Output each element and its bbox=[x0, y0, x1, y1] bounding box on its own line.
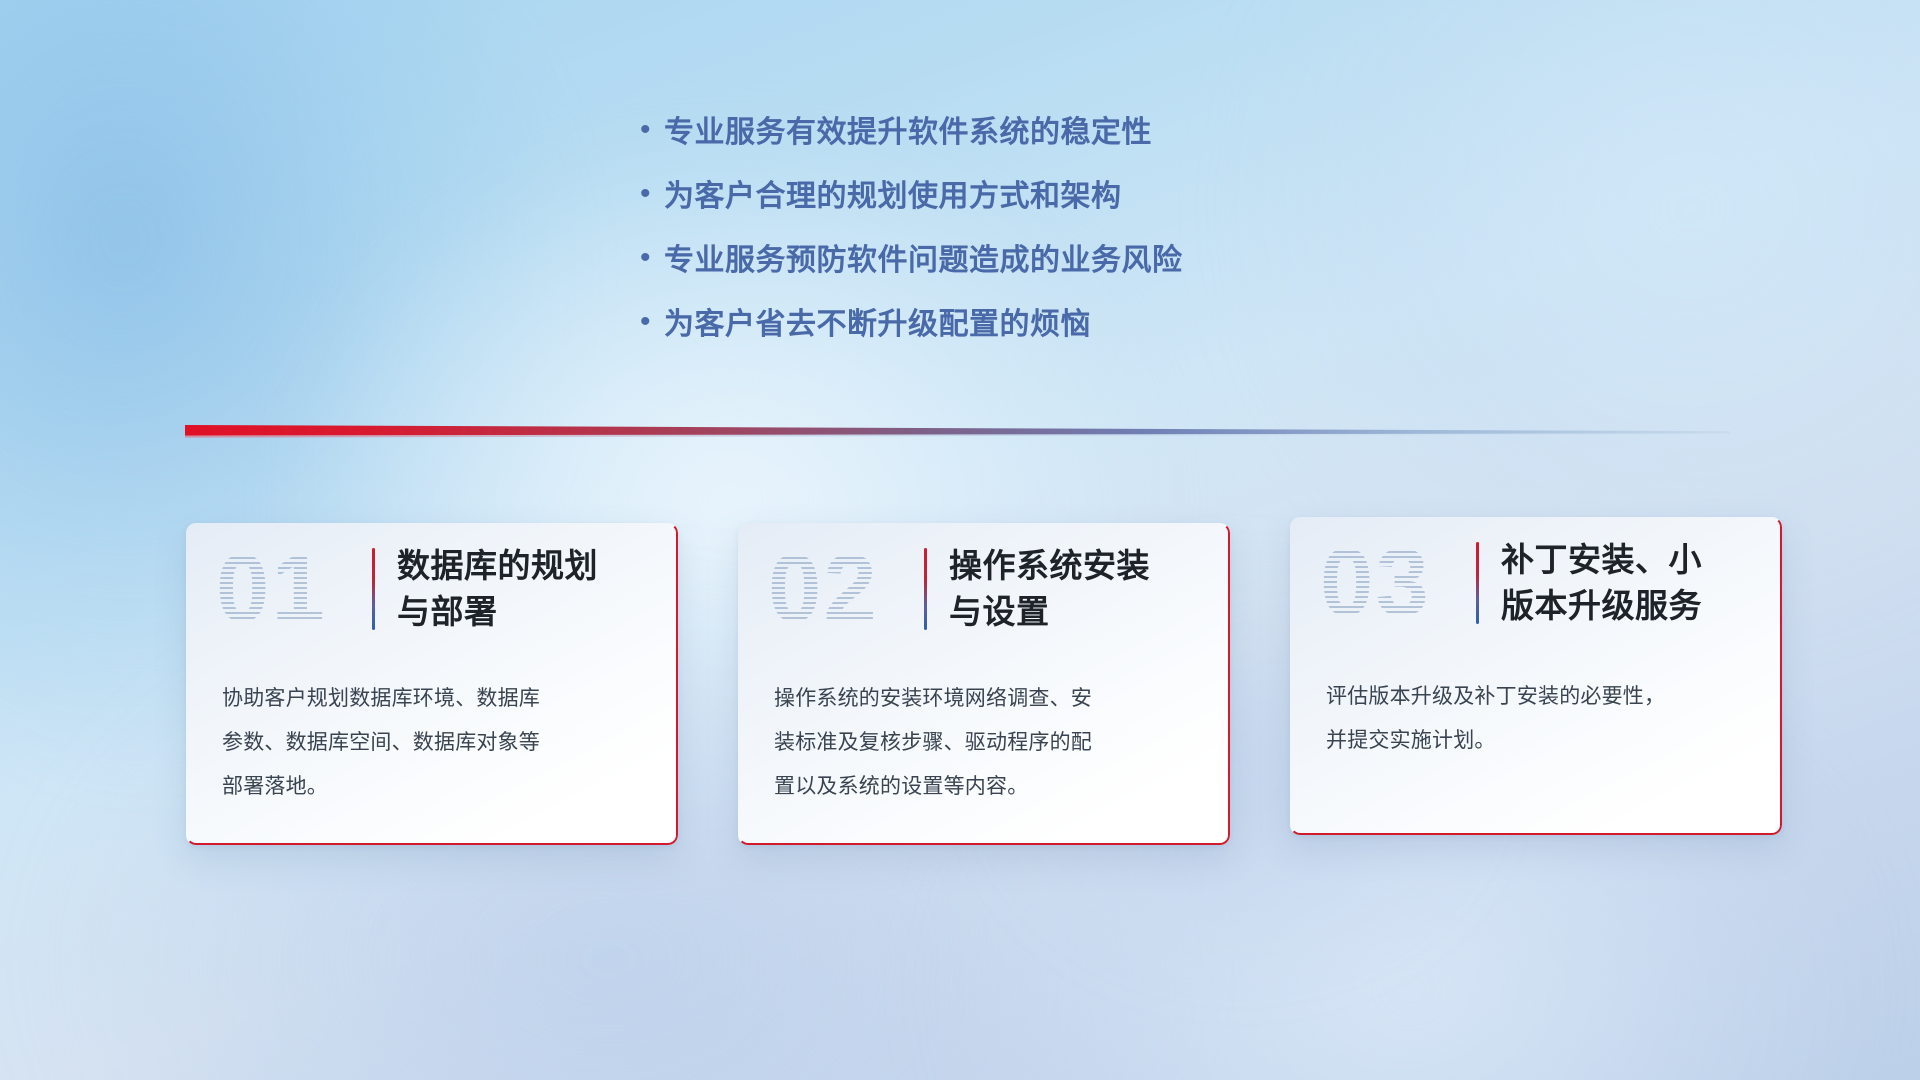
service-card-02[interactable]: 02 操作系统安装 与设置 操作系统的安装环境网络调查、安 装标准及复核步骤、驱… bbox=[738, 523, 1230, 845]
benefits-bullet-list: • 专业服务有效提升软件系统的稳定性 • 为客户合理的规划使用方式和架构 • 专… bbox=[640, 112, 1400, 368]
bullet-dot-icon: • bbox=[640, 302, 664, 342]
service-card-01[interactable]: 01 数据库的规划 与部署 协助客户规划数据库环境、数据库 参数、数据库空间、数… bbox=[186, 523, 678, 845]
card-header: 01 数据库的规划 与部署 bbox=[186, 523, 678, 655]
bullet-item-label: 为客户合理的规划使用方式和架构 bbox=[664, 176, 1122, 218]
card-accent-bar bbox=[924, 548, 927, 630]
card-description: 评估版本升级及补丁安装的必要性， 并提交实施计划。 bbox=[1290, 675, 1782, 763]
card-description: 协助客户规划数据库环境、数据库 参数、数据库空间、数据库对象等 部署落地。 bbox=[186, 677, 678, 809]
bullet-item: • 专业服务预防软件问题造成的业务风险 bbox=[640, 240, 1400, 282]
slide-canvas: • 专业服务有效提升软件系统的稳定性 • 为客户合理的规划使用方式和架构 • 专… bbox=[0, 0, 1920, 1080]
card-title: 数据库的规划 与部署 bbox=[397, 543, 598, 635]
card-number-watermark: 02 bbox=[768, 537, 920, 641]
bullet-item-label: 专业服务预防软件问题造成的业务风险 bbox=[664, 240, 1183, 282]
bullet-dot-icon: • bbox=[640, 174, 664, 214]
bullet-dot-icon: • bbox=[640, 238, 664, 278]
card-number-watermark: 01 bbox=[216, 537, 368, 641]
card-number-watermark: 03 bbox=[1320, 531, 1472, 635]
bullet-item: • 为客户合理的规划使用方式和架构 bbox=[640, 176, 1400, 218]
service-card-03[interactable]: 03 补丁安装、小 版本升级服务 评估版本升级及补丁安装的必要性， 并提交实施计… bbox=[1290, 517, 1782, 835]
card-description: 操作系统的安装环境网络调查、安 装标准及复核步骤、驱动程序的配 置以及系统的设置… bbox=[738, 677, 1230, 809]
bullet-dot-icon: • bbox=[640, 110, 664, 150]
card-accent-bar bbox=[1476, 542, 1479, 624]
card-header: 02 操作系统安装 与设置 bbox=[738, 523, 1230, 655]
bullet-item-label: 专业服务有效提升软件系统的稳定性 bbox=[664, 112, 1152, 154]
card-accent-bar bbox=[372, 548, 375, 630]
section-divider bbox=[185, 424, 1730, 444]
card-title: 操作系统安装 与设置 bbox=[949, 543, 1150, 635]
bullet-item-label: 为客户省去不断升级配置的烦恼 bbox=[664, 304, 1091, 346]
bullet-item: • 为客户省去不断升级配置的烦恼 bbox=[640, 304, 1400, 346]
bullet-item: • 专业服务有效提升软件系统的稳定性 bbox=[640, 112, 1400, 154]
card-header: 03 补丁安装、小 版本升级服务 bbox=[1290, 517, 1782, 649]
card-title: 补丁安装、小 版本升级服务 bbox=[1501, 537, 1702, 629]
